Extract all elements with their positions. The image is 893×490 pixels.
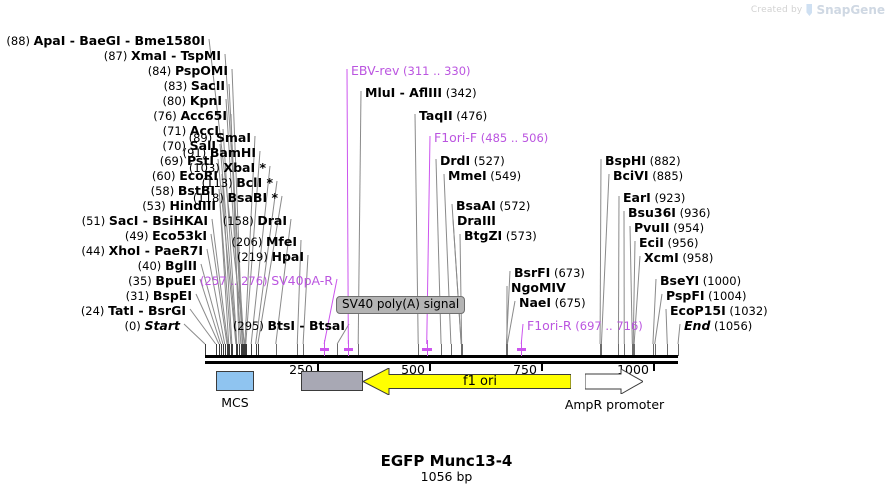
ruler-tick-250 bbox=[317, 362, 319, 371]
ruler-tick-1000 bbox=[653, 362, 655, 371]
feature-mcs-label: MCS bbox=[216, 395, 254, 410]
cut-site-tick bbox=[678, 344, 679, 356]
plasmid-name: EGFP Munc13-4 bbox=[0, 452, 893, 470]
primer-guide-line bbox=[348, 340, 349, 356]
linear-map: 2505007501000 MCS f1 ori AmpR promoter bbox=[0, 0, 893, 490]
plasmid-map-canvas: Created by SnapGene (88) ApaI - BaeGI - … bbox=[0, 0, 893, 490]
feature-mcs[interactable] bbox=[216, 371, 254, 391]
feature-f1-ori-label: f1 ori bbox=[389, 373, 571, 389]
sequence-backbone bbox=[205, 355, 678, 358]
ruler-bar bbox=[205, 361, 678, 364]
feature-ampr-promoter-label: AmpR promoter bbox=[539, 397, 690, 412]
plasmid-length: 1056 bp bbox=[0, 469, 893, 484]
feature-ampr-promoter[interactable] bbox=[585, 369, 643, 394]
primer-guide-line bbox=[521, 340, 522, 356]
feature-sv40-polya[interactable] bbox=[301, 371, 363, 391]
primer-guide-line bbox=[324, 340, 325, 356]
primer-guide-line bbox=[427, 340, 428, 356]
